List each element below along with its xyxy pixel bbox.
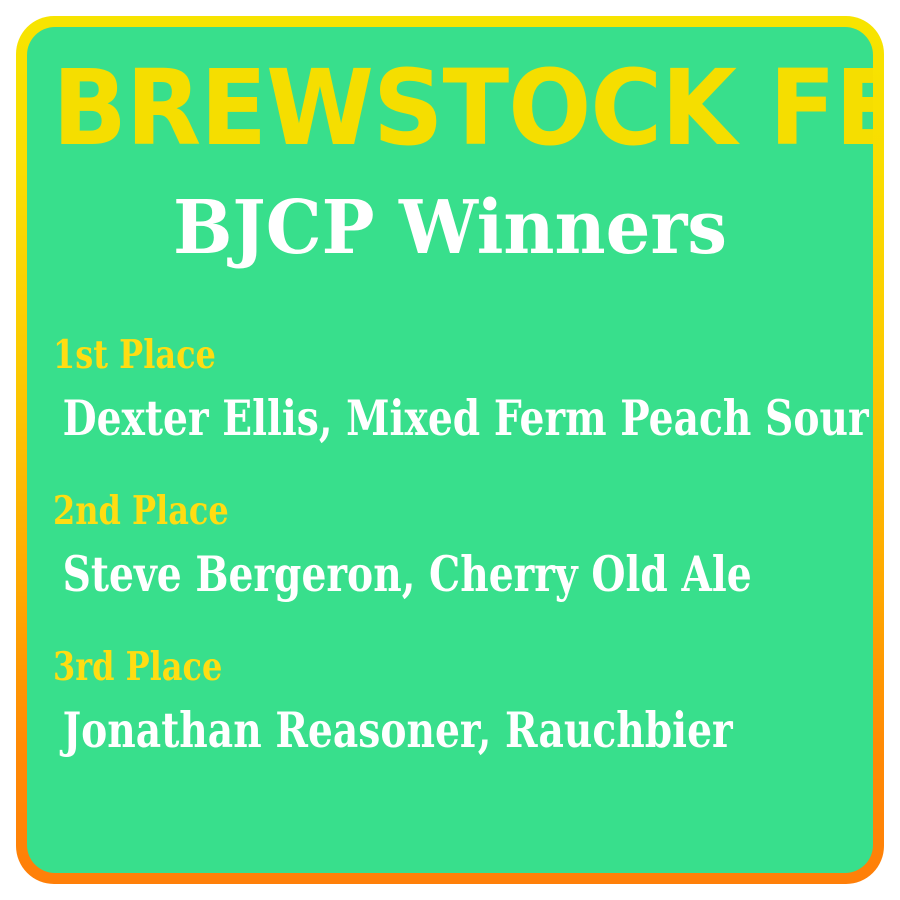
winner-row-3rd: 3rd Place Jonathan Reasoner, Rauchbier xyxy=(27,644,873,760)
poster-card-inner: BREWSTOCK FEST BJCP Winners 1st Place De… xyxy=(27,27,873,873)
place-label-3rd: 3rd Place xyxy=(53,644,725,690)
winners-list: 1st Place Dexter Ellis, Mixed Ferm Peach… xyxy=(27,332,873,760)
poster-card-frame: BREWSTOCK FEST BJCP Winners 1st Place De… xyxy=(16,16,884,884)
place-label-1st: 1st Place xyxy=(53,332,725,378)
winner-name-1st: Dexter Ellis, Mixed Ferm Peach Sour xyxy=(53,388,709,448)
poster-subtitle: BJCP Winners xyxy=(48,185,852,271)
winner-row-1st: 1st Place Dexter Ellis, Mixed Ferm Peach… xyxy=(27,332,873,448)
poster-title: BREWSTOCK FEST xyxy=(52,49,847,167)
winner-name-2nd: Steve Bergeron, Cherry Old Ale xyxy=(53,544,709,604)
winner-row-2nd: 2nd Place Steve Bergeron, Cherry Old Ale xyxy=(27,488,873,604)
poster-canvas: BREWSTOCK FEST BJCP Winners 1st Place De… xyxy=(0,0,900,900)
place-label-2nd: 2nd Place xyxy=(53,488,725,534)
winner-name-3rd: Jonathan Reasoner, Rauchbier xyxy=(53,700,709,760)
